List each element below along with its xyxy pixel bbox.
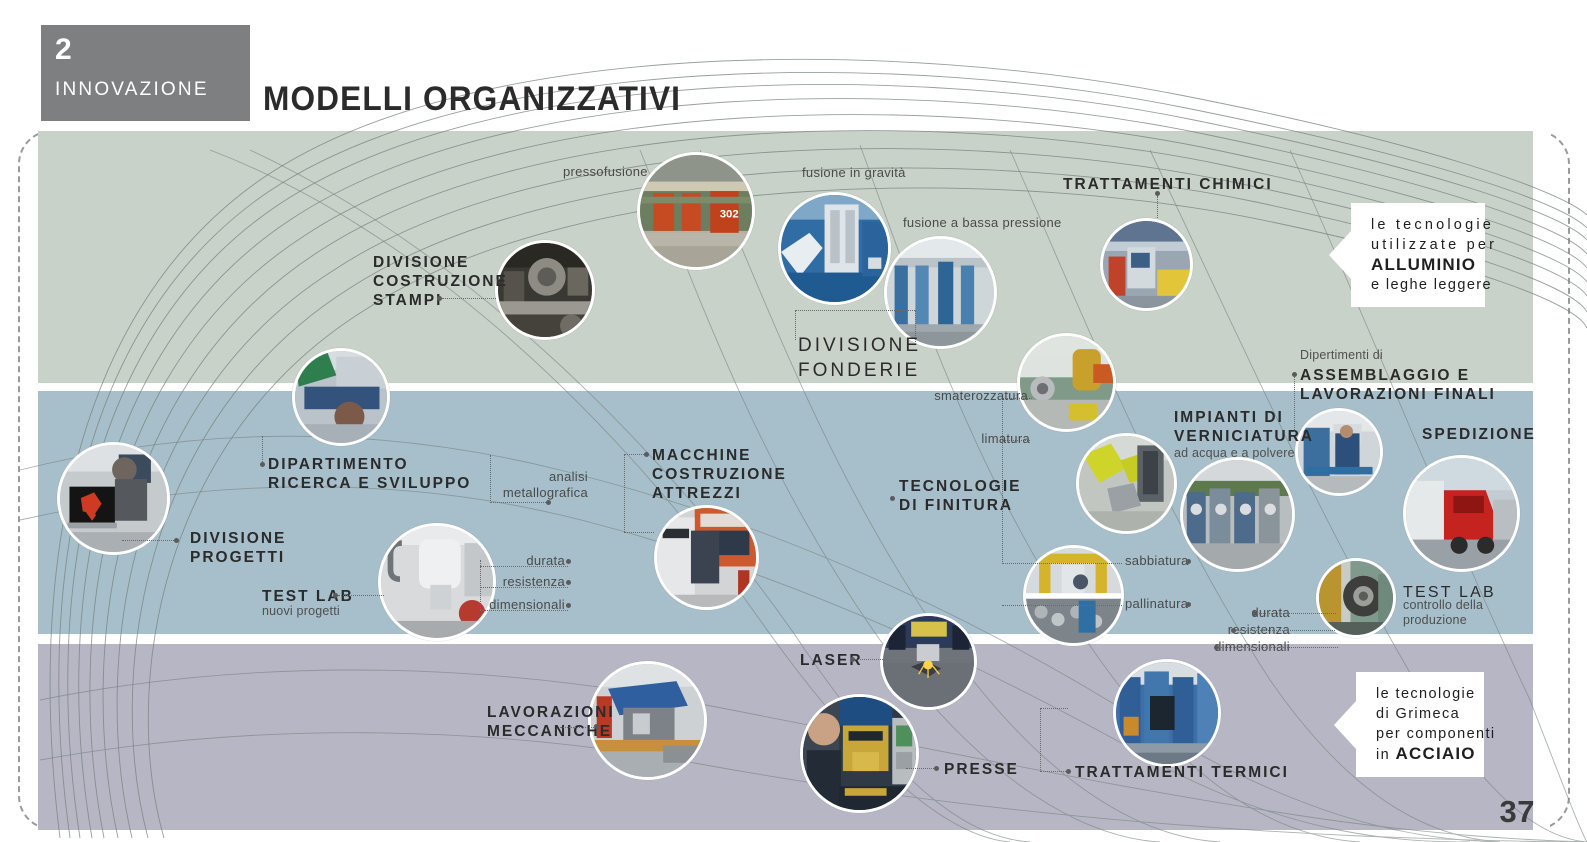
fusione-gravita-photo [778,192,891,305]
chapter-number: 2 [55,33,250,67]
leader-assemblaggio [1294,376,1295,432]
dot-sabbiatura [1186,559,1191,564]
label-smaterozzatura: smaterozzatura [930,388,1028,404]
dot-presse [934,766,939,771]
label-impianti-verniciatura-sub: ad acqua e a polvere [1174,446,1295,461]
leader-presse [906,768,934,769]
leader-laser [855,659,887,660]
dot-analisi-metallografica [546,500,551,505]
page-title: MODELLI ORGANIZZATIVI [263,80,681,119]
leader-durata-right [1256,613,1336,614]
smaterozzatura-photo [1017,333,1116,432]
label-trattamenti-termici: TRATTAMENTI TERMICI [1075,763,1289,782]
leader-fonderie-left [795,310,796,340]
leader-trattamenti-chimici [1157,196,1158,218]
leader-ricerca-sviluppo [262,436,263,462]
label-pallinatura: pallinatura [1125,596,1188,612]
leader-resistenza-left [480,587,568,588]
callout-alluminio-line3: ALLUMINIO [1371,255,1469,275]
leader-analisi-v [490,455,491,503]
limatura-photo [1076,433,1177,534]
leader-macchine-v [624,454,625,532]
dot-resistenza-left [566,580,571,585]
callout-acciaio-line4: in ACCIAIO [1376,744,1468,765]
leader-finitura-sabb [1002,563,1122,564]
dot-resistenza-right [1231,628,1236,633]
label-impianti-verniciatura: IMPIANTI DI VERNICIATURA [1174,408,1314,446]
trattamenti-chimici-photo [1100,218,1193,311]
leader-analisi-metallografica [490,502,548,503]
label-divisione-costruzione-stampi: DIVISIONE COSTRUZIONE STAMPI [373,253,508,310]
leader-costruzione-stampi [442,298,496,299]
dot-macchine-attrezzi [644,452,649,457]
chapter-name: INNOVAZIONE [55,77,250,103]
laser-photo [880,613,977,710]
leader-termici-v [1040,708,1041,772]
label-divisione-fonderie: DIVISIONE FONDERIE [798,333,921,383]
dot-test-lab-nuovi [333,593,338,598]
leader-durata-left [480,566,568,567]
sabbiatura-photo [1023,545,1124,646]
svg-text:302: 302 [720,209,739,221]
callout-alluminio: le tecnologie utilizzate per ALLUMINIO e… [1351,203,1485,307]
leader-fonderie-top [795,310,915,311]
leader-dimensionali-right [1218,647,1338,648]
dot-trattamenti-termici [1066,769,1071,774]
verniciatura-photo [1180,457,1295,572]
presse-photo [800,694,919,813]
leader-dimensionali-left [480,610,568,611]
label-divisione-progetti: DIVISIONE PROGETTI [190,529,286,567]
page-number: 37 [1500,794,1535,830]
label-lavorazioni-meccaniche: LAVORAZIONI MECCANICHE [487,703,615,741]
leader-finitura-pall [1002,605,1122,606]
callout-acciaio-line1: le tecnologie [1376,684,1468,704]
spedizione-photo [1403,455,1520,572]
leader-left-group-v [480,560,481,610]
leader-divisione-progetti [122,540,174,541]
label-fusione-bassa-pressione: fusione a bassa pressione [903,215,1062,231]
label-dipartimento-ricerca: DIPARTIMENTO RICERCA E SVILUPPO [268,455,471,493]
leader-trattamenti-termici [1040,771,1068,772]
label-trattamenti-chimici: TRATTAMENTI CHIMICI [1063,175,1273,194]
label-assemblaggio: ASSEMBLAGGIO E LAVORAZIONI FINALI [1300,366,1496,404]
ricerca-sviluppo-photo [292,348,390,446]
leader-lavorazioni-meccaniche [560,727,596,728]
callout-alluminio-line4: e leghe leggere [1371,275,1469,295]
label-test-lab-controllo-sub: controllo della produzione [1403,598,1483,628]
label-sabbiatura: sabbiatura [1125,553,1189,569]
label-pressofusione: pressofusione [563,164,648,180]
leader-termici-top [1040,708,1068,709]
band-steel [38,644,1533,830]
pressofusione-photo: 302 [637,152,755,270]
label-test-lab-nuovi-sub: nuovi progetti [262,604,340,619]
dot-tecnologie-finitura [890,496,895,501]
callout-acciaio: le tecnologie di Grimeca per componenti … [1356,672,1484,777]
divisione-progetti-photo [57,442,170,555]
dot-dimensionali-left [566,603,571,608]
trattamenti-termici-photo [1113,659,1221,767]
dot-lavorazioni-meccaniche [594,724,599,729]
chapter-badge: 2 INNOVAZIONE [41,25,250,121]
callout-acciaio-line4-pre: in [1376,747,1396,763]
dot-durata-right [1252,611,1257,616]
leader-finitura-v [1002,398,1003,564]
test-lab-produzione-photo [1316,558,1396,638]
dot-costruzione-stampi [437,296,442,301]
dot-durata-left [566,559,571,564]
leader-fonderie-right [915,310,916,342]
label-dipertimenti-di: Dipertimenti di [1300,348,1383,363]
label-spedizione: SPEDIZIONE [1422,425,1536,444]
macchine-attrezzi-photo [654,505,759,610]
label-macchine-attrezzi: MACCHINE COSTRUZIONE ATTREZZI [652,446,787,503]
label-limatura: limatura [960,431,1030,447]
callout-alluminio-line1: le tecnologie [1371,215,1469,235]
callout-acciaio-line2: di Grimeca [1376,704,1468,724]
leader-resistenza-right [1235,630,1335,631]
dot-dimensionali-right [1214,645,1219,650]
callout-acciaio-line4-strong: ACCIAIO [1396,744,1476,763]
label-tecnologie-finitura: TECNOLOGIE DI FINITURA [899,477,1021,515]
label-presse: PRESSE [944,760,1019,779]
dot-pallinatura [1186,602,1191,607]
dot-ricerca-sviluppo [260,462,265,467]
label-fusione-gravita: fusione in gravità [802,165,906,181]
brochure-page: 2 INNOVAZIONE MODELLI ORGANIZZATIVI 302 … [0,0,1587,842]
leader-macchine-bottom [624,532,654,533]
costruzione-stampi-photo [495,240,595,340]
callout-acciaio-line3: per componenti [1376,724,1468,744]
label-analisi-metallografica: analisi metallografica [466,469,588,501]
dot-trattamenti-chimici [1155,191,1160,196]
dot-assemblaggio [1292,372,1297,377]
leader-macchine-attrezzi [624,454,646,455]
dot-laser [850,657,855,662]
leader-test-lab-nuovi [338,595,384,596]
dot-divisione-progetti [174,538,179,543]
callout-alluminio-line2: utilizzate per [1371,235,1469,255]
